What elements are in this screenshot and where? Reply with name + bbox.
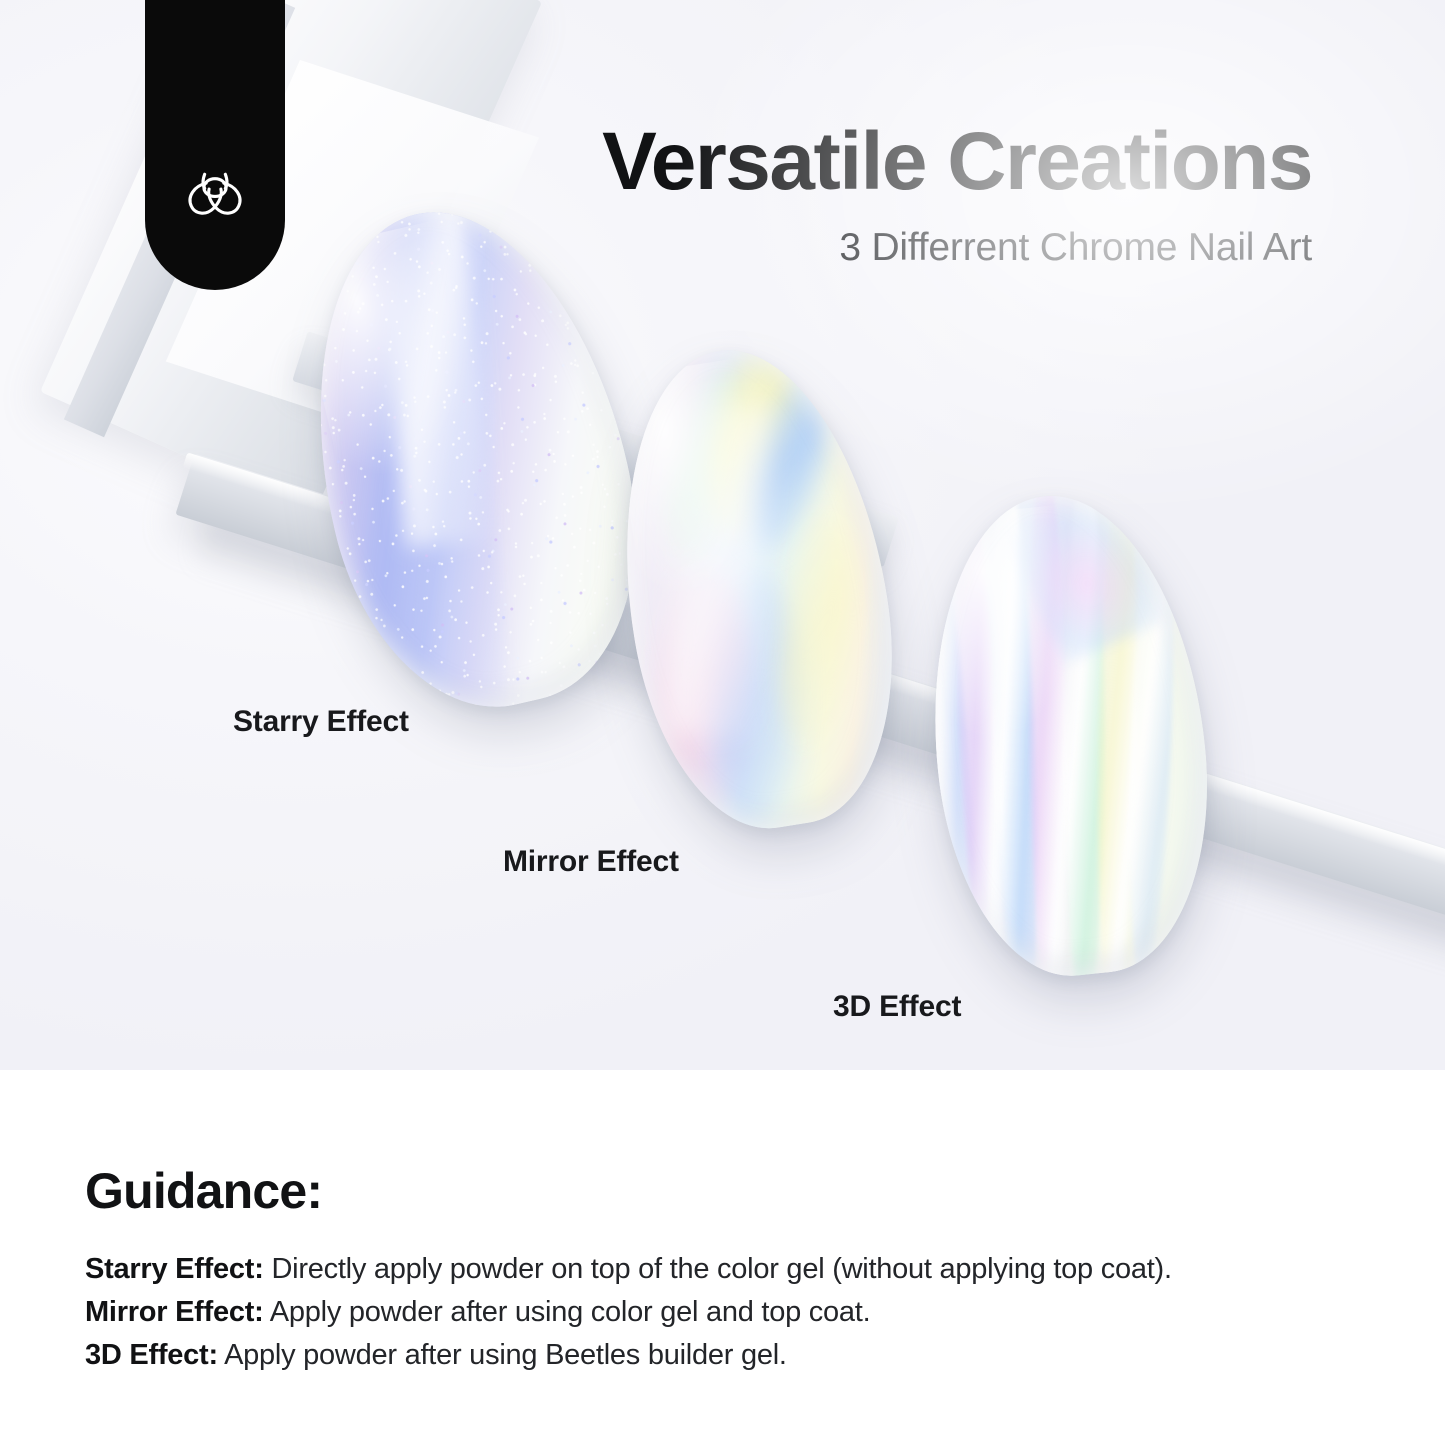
guidance-text-starry: Directly apply powder on top of the colo…: [271, 1253, 1171, 1285]
product-photo-panel: Versatile Creations 3 Differrent Chrome …: [0, 0, 1445, 1070]
page-subtitle: 3 Differrent Chrome Nail Art: [412, 226, 1312, 270]
guidance-label-3d: 3D Effect:: [85, 1339, 218, 1371]
guidance-line: Starry Effect: Directly apply powder on …: [85, 1248, 1385, 1291]
nail-swatch-3d: [911, 482, 1228, 987]
guidance-label-starry: Starry Effect:: [85, 1253, 264, 1285]
guidance-label-mirror: Mirror Effect:: [85, 1296, 264, 1328]
nail-swatch-mirror: [592, 331, 920, 845]
guidance-heading: Guidance:: [85, 1162, 1385, 1220]
beetle-logo-icon: [178, 158, 252, 232]
guidance-text-mirror: Apply powder after using color gel and t…: [270, 1296, 871, 1328]
guidance-line: 3D Effect: Apply powder after using Beet…: [85, 1334, 1385, 1377]
guidance-text-3d: Apply powder after using Beetles builder…: [224, 1339, 787, 1371]
brand-logo-tab: [145, 0, 285, 290]
nail-mirror-highlight: [663, 401, 771, 739]
title-block: Versatile Creations 3 Differrent Chrome …: [412, 120, 1312, 270]
nail-caption-starry: Starry Effect: [233, 705, 409, 739]
guidance-section: Guidance: Starry Effect: Directly apply …: [0, 1070, 1445, 1445]
nail-caption-mirror: Mirror Effect: [503, 845, 679, 879]
nail-caption-3d: 3D Effect: [833, 990, 961, 1024]
page-title: Versatile Creations: [412, 120, 1312, 204]
guidance-line: Mirror Effect: Apply powder after using …: [85, 1291, 1385, 1334]
